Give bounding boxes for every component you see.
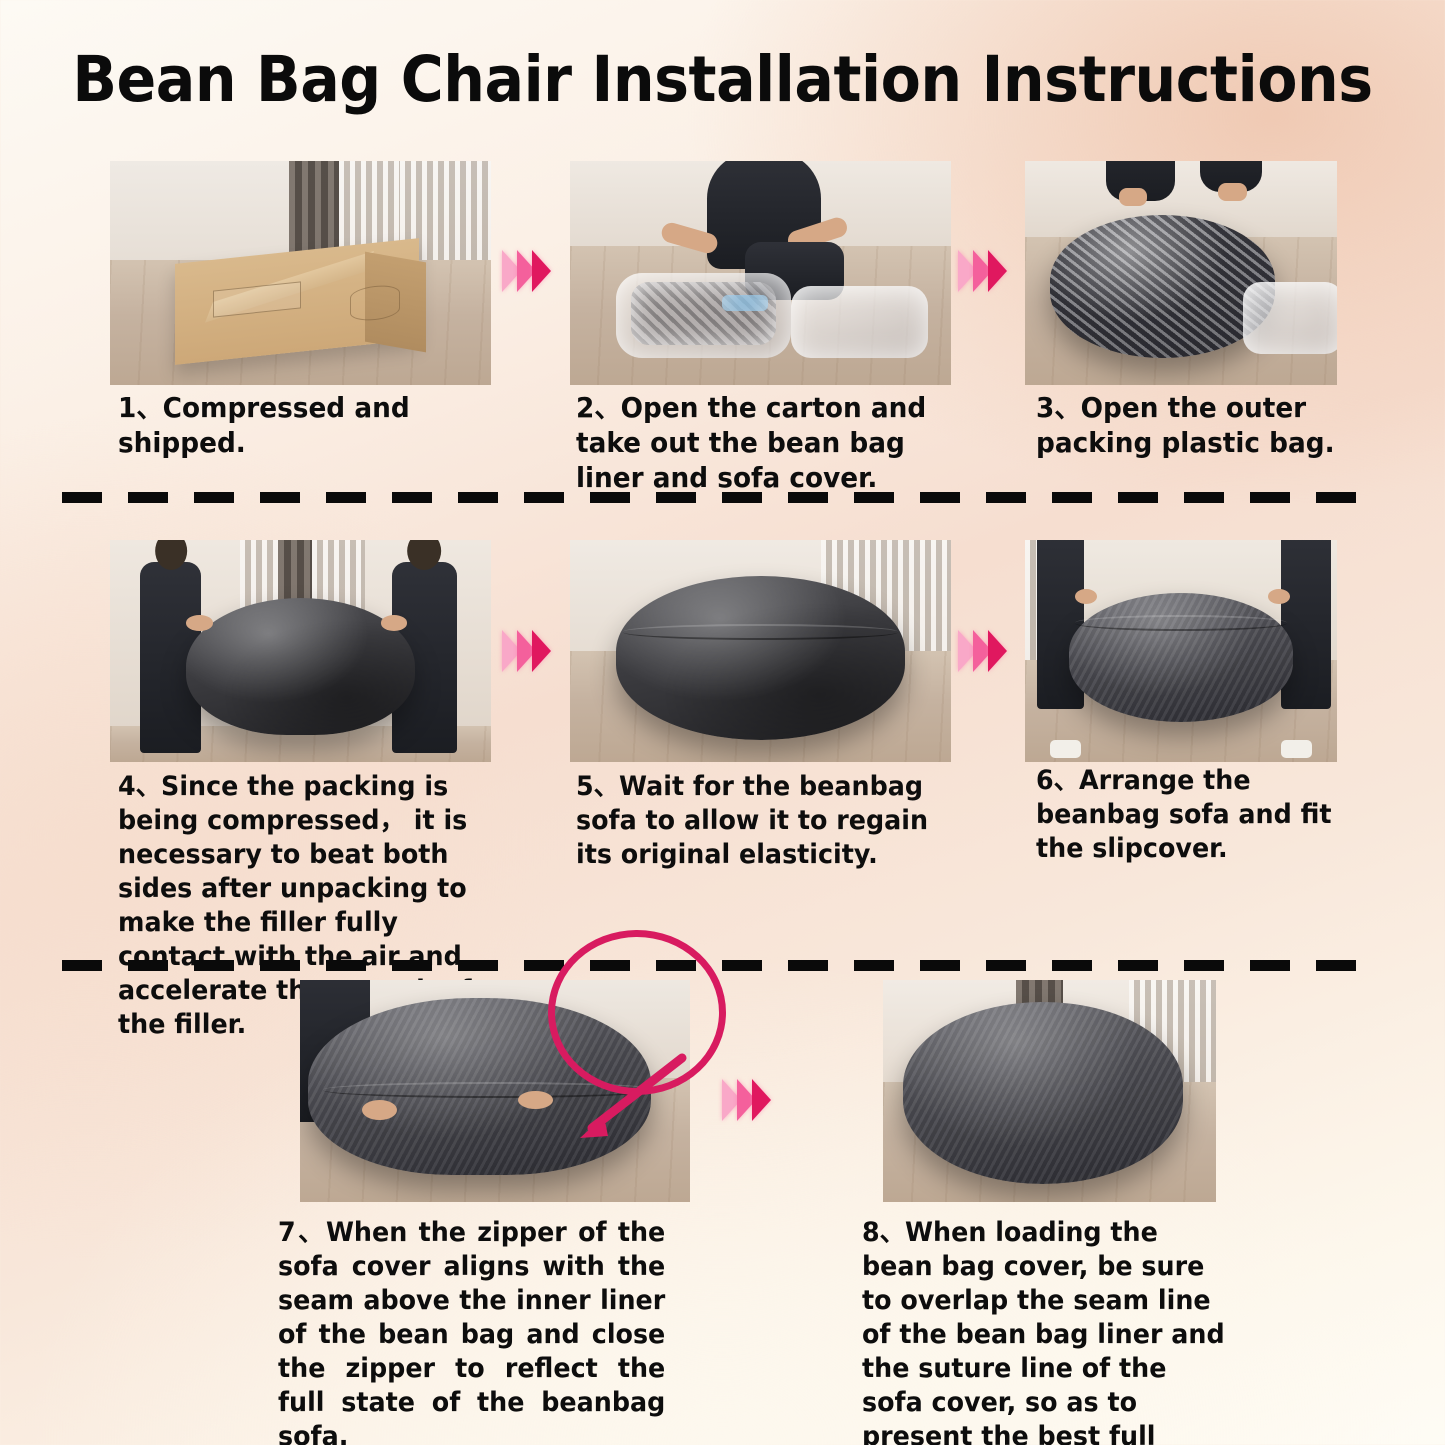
step-caption-1: 1、Compressed and shipped. xyxy=(118,390,513,460)
step-image-4 xyxy=(110,540,491,762)
chevron-right-icon xyxy=(752,1079,771,1121)
step-image-2 xyxy=(570,161,951,385)
step-image-6 xyxy=(1025,540,1337,762)
chevron-right-icon xyxy=(532,630,551,672)
step-image-3 xyxy=(1025,161,1337,385)
instruction-sheet: Bean Bag Chair Installation Instructions xyxy=(0,0,1445,1445)
page-title: Bean Bag Chair Installation Instructions xyxy=(51,44,1395,116)
arrow-step-1-to-2 xyxy=(502,250,547,292)
arrow-step-4-to-5 xyxy=(502,630,547,672)
chevron-right-icon xyxy=(988,630,1007,672)
step-caption-3: 3、Open the outer packing plastic bag. xyxy=(1036,390,1365,460)
chevron-right-icon xyxy=(532,250,551,292)
step-caption-8: 8、When loading the bean bag cover, be su… xyxy=(862,1216,1232,1445)
divider-row-2 xyxy=(62,960,1382,971)
step-image-5 xyxy=(570,540,951,762)
zipper-seam-callout-arrow xyxy=(530,1020,730,1150)
arrow-step-7-to-8 xyxy=(722,1079,767,1121)
chevron-right-icon xyxy=(988,250,1007,292)
arrow-step-5-to-6 xyxy=(958,630,1003,672)
step-caption-7: 7、When the zipper of the sofa cover alig… xyxy=(278,1216,665,1445)
step-caption-2: 2、Open the carton and take out the bean … xyxy=(576,390,944,495)
step-caption-6: 6、Arrange the beanbag sofa and fit the s… xyxy=(1036,764,1371,866)
step-caption-5: 5、Wait for the beanbag sofa to allow it … xyxy=(576,770,944,872)
step-image-8 xyxy=(883,980,1216,1202)
divider-row-1 xyxy=(62,492,1382,503)
arrow-step-2-to-3 xyxy=(958,250,1003,292)
step-image-1 xyxy=(110,161,491,385)
